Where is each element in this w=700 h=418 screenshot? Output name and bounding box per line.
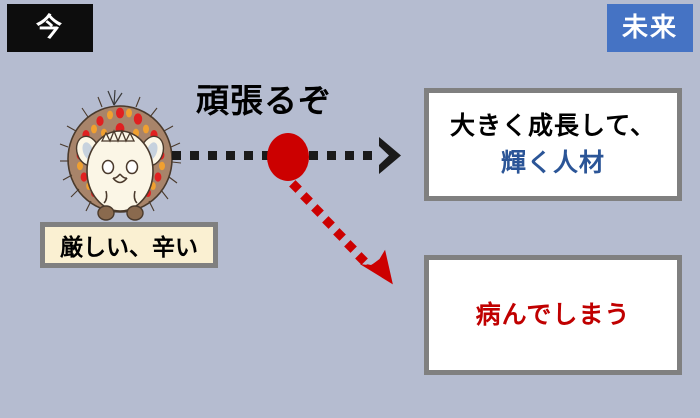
outcome-box-positive: 大きく成長して、 輝く人材 <box>424 88 682 201</box>
outcome-negative-line1: 病んでしまう <box>476 297 631 333</box>
badge-future-label: 未来 <box>622 15 678 41</box>
outcome-positive-line2: 輝く人材 <box>501 145 605 181</box>
diagram-canvas: 今 未来 <box>0 0 700 418</box>
outcome-positive-line1: 大きく成長して、 <box>450 108 656 144</box>
struggle-label-text: 厳しい、辛い <box>60 228 198 262</box>
badge-future: 未来 <box>607 4 693 52</box>
red-branch-dot <box>267 133 309 181</box>
struggle-label: 厳しい、辛い <box>40 222 218 268</box>
badge-now-label: 今 <box>36 15 64 41</box>
outcome-box-negative: 病んでしまう <box>424 255 682 375</box>
hedgehog-icon <box>58 85 184 227</box>
badge-now: 今 <box>7 4 93 52</box>
effort-caption-text: 頑張るぞ <box>196 81 332 120</box>
effort-caption: 頑張るぞ <box>196 84 332 117</box>
